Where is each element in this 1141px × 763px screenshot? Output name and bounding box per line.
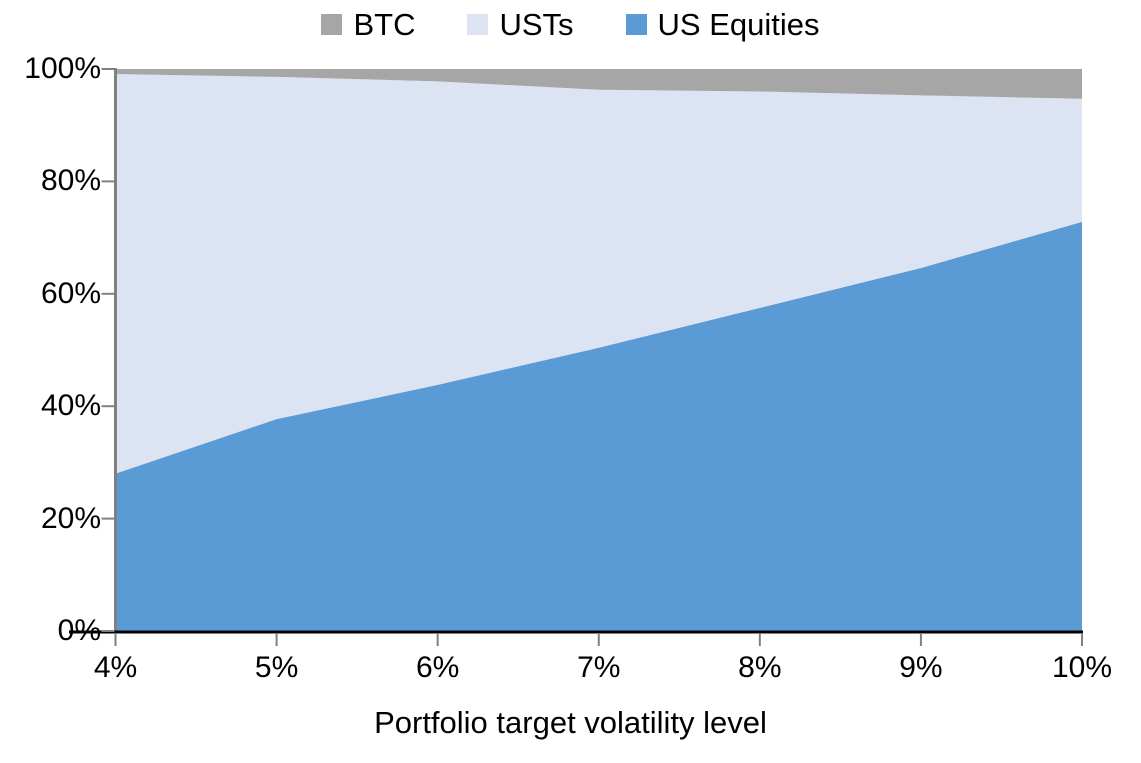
x-axis: 4%5%6%7%8%9%10%	[0, 0, 1141, 763]
x-tick-label: 6%	[416, 653, 459, 683]
x-tick-label: 5%	[255, 653, 298, 683]
x-tick-label: 4%	[94, 653, 137, 683]
x-tick-label: 9%	[899, 653, 942, 683]
stacked-area-chart: BTC USTs US Equities 0%20%40%60%80%100% …	[0, 0, 1141, 763]
x-tick-label: 10%	[1052, 653, 1112, 683]
x-axis-title: Portfolio target volatility level	[0, 706, 1141, 740]
x-tick-label: 7%	[577, 653, 620, 683]
x-tick-label: 8%	[738, 653, 781, 683]
